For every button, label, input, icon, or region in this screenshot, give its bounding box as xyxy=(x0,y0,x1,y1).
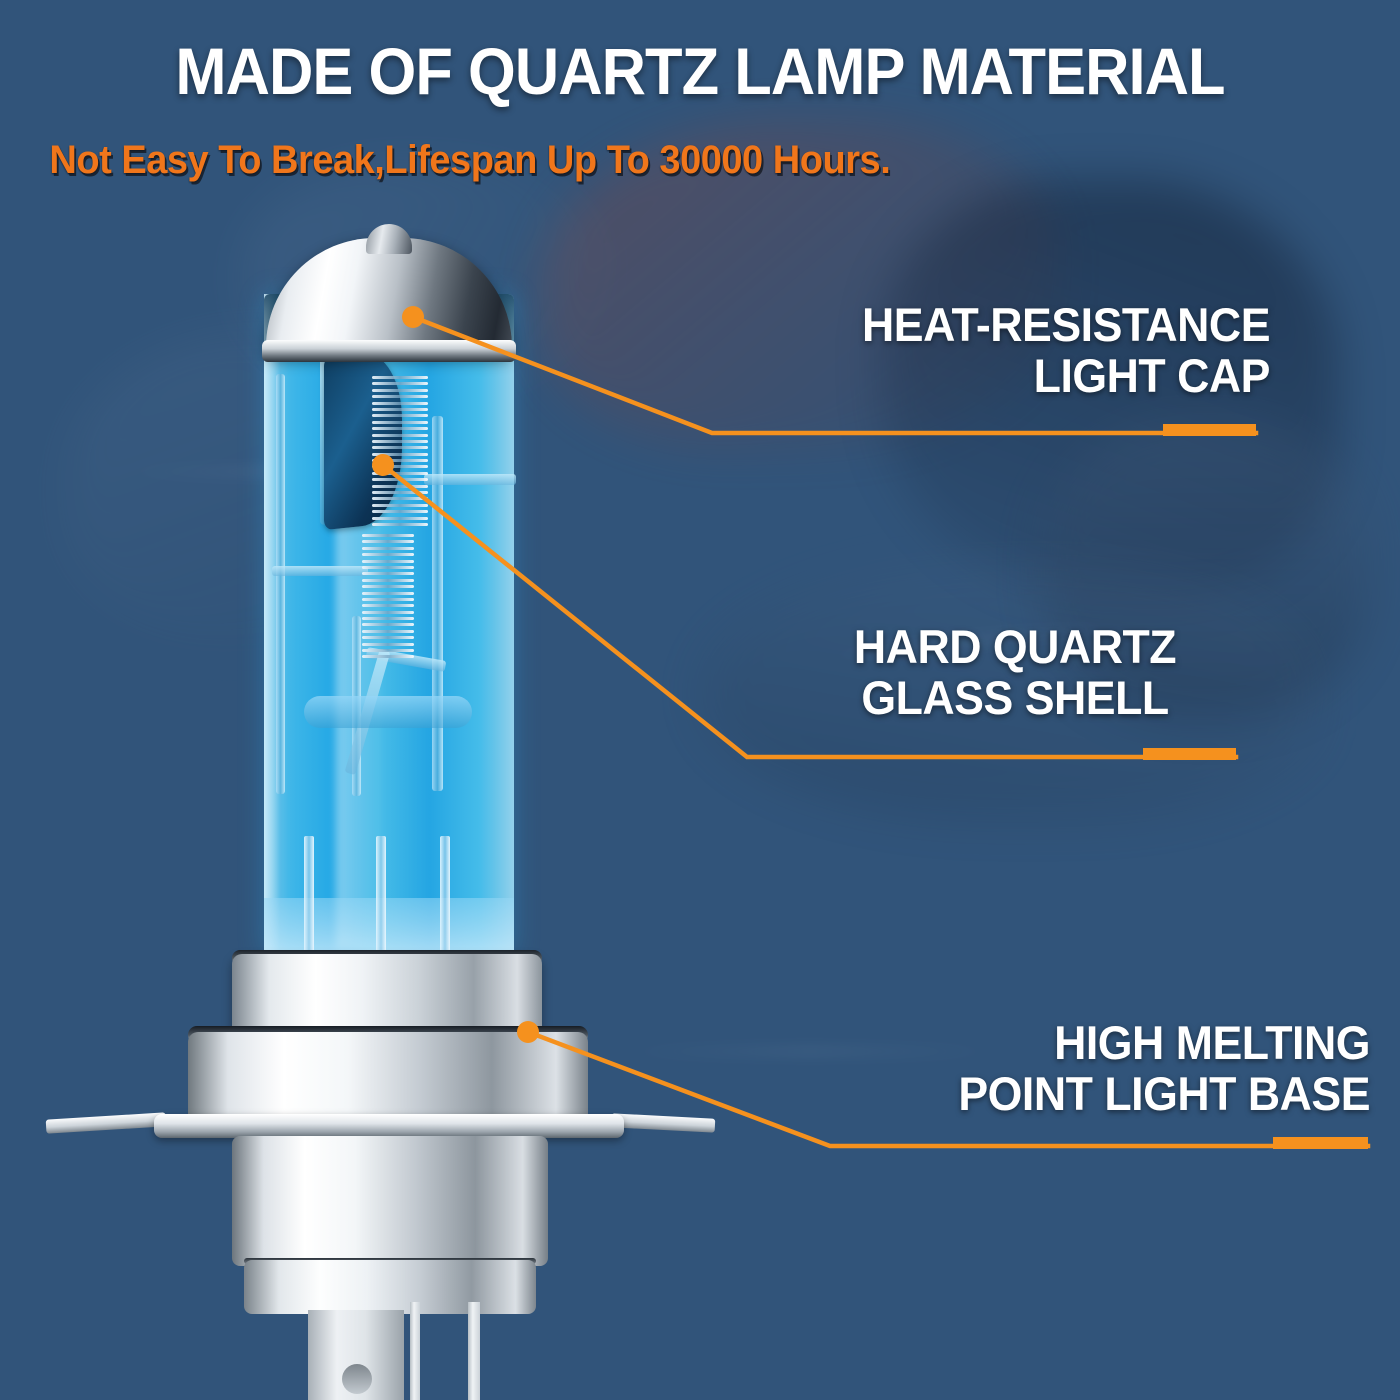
callout-heat-resistance-light-cap: HEAT-RESISTANCE LIGHT CAP xyxy=(740,300,1270,402)
lead-wire xyxy=(304,836,314,956)
base-bottom-ring xyxy=(244,1260,536,1314)
callout-hard-quartz-glass-shell: HARD QUARTZ GLASS SHELL xyxy=(780,622,1250,724)
callout-line-2: GLASS SHELL xyxy=(792,673,1239,724)
support-post xyxy=(432,416,443,791)
filament-coil-high-beam xyxy=(372,376,428,529)
underline-bar-glass xyxy=(1143,748,1236,760)
base-lower-cylinder xyxy=(232,1136,548,1266)
internal-wire-bar xyxy=(304,696,472,728)
dome-tip xyxy=(366,224,412,254)
lead-wire xyxy=(376,836,386,956)
bulb-illustration xyxy=(36,236,766,1316)
underline-bar-cap xyxy=(1163,424,1256,436)
dome-lip xyxy=(262,340,516,362)
callout-line-1: HARD QUARTZ xyxy=(792,622,1239,673)
connector-pin xyxy=(410,1302,420,1400)
blade-terminal-hole xyxy=(342,1364,372,1394)
support-cross-arm xyxy=(272,566,368,576)
lead-wire xyxy=(440,836,450,956)
base-locating-tab-left xyxy=(46,1112,167,1133)
callout-line-1: HIGH MELTING xyxy=(857,1018,1370,1069)
base-mounting-flange xyxy=(154,1114,624,1138)
callout-line-2: POINT LIGHT BASE xyxy=(857,1069,1370,1120)
connector-pin xyxy=(468,1302,480,1400)
page-title: MADE OF QUARTZ LAMP MATERIAL xyxy=(49,38,1351,104)
page-subtitle: Not Easy To Break,Lifespan Up To 30000 H… xyxy=(0,140,1330,180)
callout-line-1: HEAT-RESISTANCE xyxy=(767,300,1271,351)
base-body xyxy=(188,1032,588,1124)
callout-high-melting-point-light-base: HIGH MELTING POINT LIGHT BASE xyxy=(830,1018,1370,1120)
infographic-canvas: MADE OF QUARTZ LAMP MATERIAL Not Easy To… xyxy=(0,0,1400,1400)
glass-bottom-band xyxy=(264,898,514,954)
base-locating-tab-right xyxy=(611,1113,716,1132)
support-post xyxy=(276,374,285,794)
base-upper-collar xyxy=(232,954,542,1036)
callout-line-2: LIGHT CAP xyxy=(767,351,1271,402)
support-cross-arm xyxy=(424,474,516,485)
underline-bar-base xyxy=(1273,1137,1368,1149)
filament-coil-low-beam xyxy=(362,534,414,662)
heat-resistant-light-cap xyxy=(266,238,512,356)
